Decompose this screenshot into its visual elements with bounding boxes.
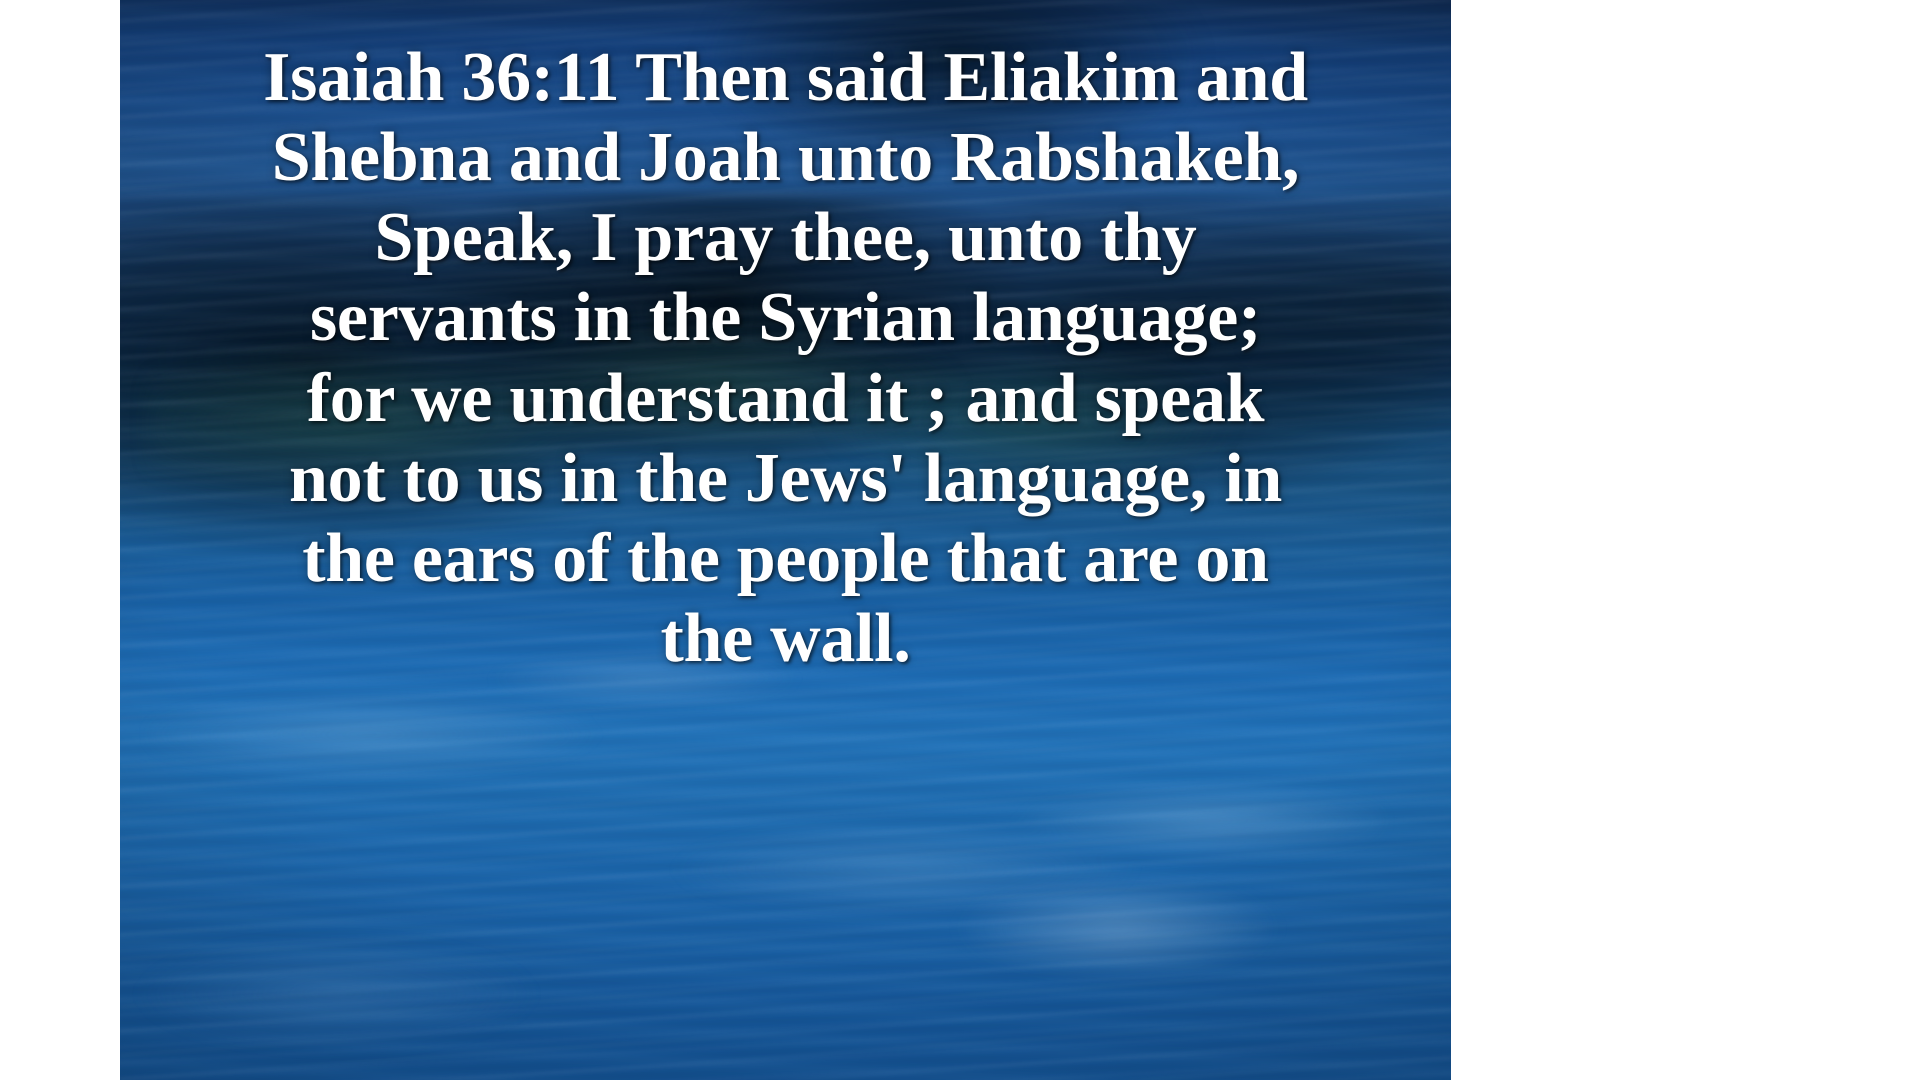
verse-text: Isaiah 36:11 Then said Eliakim and Shebn… — [120, 0, 1451, 679]
verse-slide: Isaiah 36:11 Then said Eliakim and Shebn… — [120, 0, 1451, 1080]
slide-stage: Isaiah 36:11 Then said Eliakim and Shebn… — [0, 0, 1920, 1080]
